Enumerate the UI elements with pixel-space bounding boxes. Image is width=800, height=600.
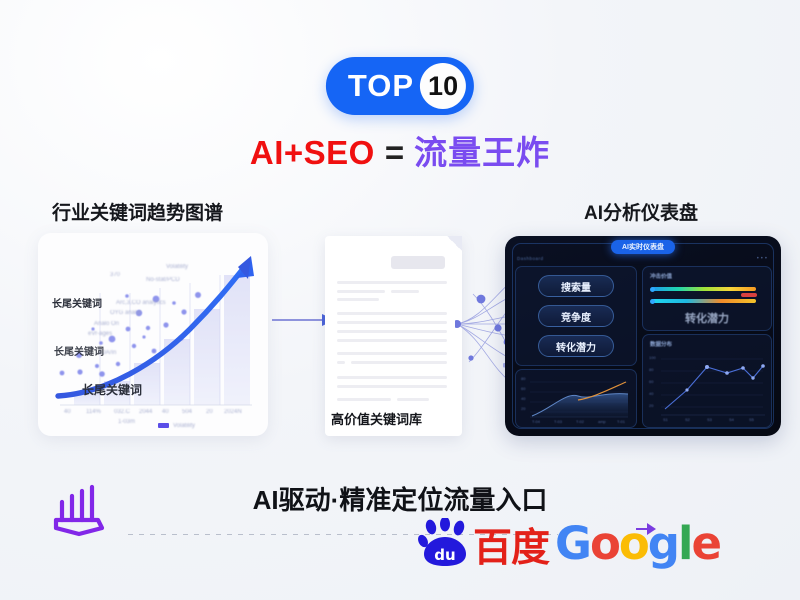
top-rank-badge: TOP 10 [326, 57, 474, 115]
x-tick-4: 40 [162, 409, 169, 415]
doc-line [337, 361, 345, 364]
x-tick-7: 2024N [224, 409, 242, 415]
x-tick-0: 40 [64, 409, 71, 415]
keyword-label-0: 长尾关键词 [52, 295, 102, 310]
area-x-tick-2: T-02 [576, 419, 584, 424]
dashboard-menu-dots[interactable]: ••• [757, 256, 769, 262]
line-x-tick-0: S1 [663, 417, 668, 422]
line-y-tick-1: 40 [649, 391, 653, 396]
area-x-tick-0: T-04 [532, 419, 540, 424]
x-tick-3: 2044 [139, 409, 152, 415]
gauge-alert-tag [741, 293, 757, 297]
doc-line [397, 398, 429, 401]
gauge-bar-1 [652, 299, 756, 303]
doc-line [337, 321, 447, 324]
blur-text-3: OYG analyt [110, 310, 141, 316]
google-letter-4: l [678, 517, 691, 570]
blur-text-7: 370 [110, 272, 120, 278]
area-x-tick-4: T-01 [617, 419, 625, 424]
area-x-tick-3: amp [598, 419, 606, 424]
metric-pill-competition[interactable]: 竞争度 [538, 305, 614, 327]
line-y-tick-2: 60 [649, 379, 653, 384]
area-chart-panel: 80 60 40 20 T-04 T-03 T-02 amp T-01 [515, 369, 637, 428]
line-y-tick-0: 20 [649, 403, 653, 408]
headline-left: AI+SEO [250, 134, 375, 171]
left-section-caption: 行业关键词趋势图谱 [52, 198, 223, 225]
ai-dashboard-panel: AI实时仪表盘 Dashboard ••• 搜索量 竞争度 转化潜力 [505, 236, 781, 436]
blur-text-1: No-stat/PCD [146, 277, 180, 283]
google-letter-5: e [691, 517, 720, 570]
google-letter-1: o [590, 517, 619, 570]
gauge-bar-0 [652, 287, 756, 291]
google-letter-0: G [555, 517, 590, 570]
dashboard-brand-text: Dashboard [517, 256, 544, 261]
baidu-paw-text: du [434, 546, 455, 564]
headline-equals: = [385, 134, 404, 171]
gauge-panel-title: 冲击价值 [650, 272, 672, 280]
gauge-marker-1 [650, 299, 655, 304]
blur-text-2: Arc,3,CO analytics [116, 300, 166, 306]
x-tick-6: 20 [206, 409, 213, 415]
legend-swatch [158, 423, 169, 428]
bar-rank-icon [48, 484, 110, 540]
page-fold-icon [447, 236, 462, 251]
doc-line [337, 290, 385, 293]
doc-caption: 高价值关键词库 [331, 409, 422, 428]
x-tick-1: 114% [86, 409, 101, 415]
keyword-label-1: 长尾关键词 [54, 343, 104, 358]
metric-pill-conversion[interactable]: 转化潜力 [538, 335, 614, 357]
line-x-tick-2: S3 [707, 417, 712, 422]
brand-logos: du 百度 Google [418, 518, 720, 568]
doc-line [337, 281, 447, 284]
keyword-library-card: 高价值关键词库 [325, 236, 462, 436]
keyword-trend-chart [38, 233, 268, 436]
top-badge-label: TOP [348, 70, 414, 103]
doc-line [337, 352, 447, 355]
area-y-tick-0: 20 [521, 406, 525, 411]
doc-line [337, 330, 447, 333]
area-y-tick-1: 40 [521, 396, 525, 401]
gauge-overlay-label: 转化潜力 [643, 310, 771, 326]
blur-text-5: eVr-ages [88, 331, 112, 337]
doc-line [337, 398, 391, 401]
footer-tagline: AI驱动·精准定位流量入口 [0, 480, 800, 517]
baidu-cn-label: 百度 [473, 529, 549, 568]
baidu-logo: du 百度 [418, 518, 549, 568]
line-y-tick-3: 80 [649, 367, 653, 372]
dashboard-title-badge: AI实时仪表盘 [611, 240, 675, 254]
area-x-tick-1: T-03 [554, 419, 562, 424]
doc-header-block [391, 256, 445, 269]
metric-pill-search-volume[interactable]: 搜索量 [538, 275, 614, 297]
blur-text-0: Volatility [166, 264, 188, 270]
area-y-tick-3: 80 [521, 376, 525, 381]
value-gauge-panel: 冲击价值 转化潜力 [642, 266, 772, 331]
x-tick-5: 504 [182, 409, 192, 415]
doc-line [337, 376, 447, 379]
blur-text-4: Analo On [94, 321, 119, 327]
page-title: AI+SEO=流量王炸 [0, 126, 800, 174]
keyword-label-2: 长尾关键词 [82, 381, 142, 398]
x-tick-2: 032.C [114, 409, 130, 415]
line-x-tick-3: S4 [729, 417, 734, 422]
baidu-paw-icon: du [418, 518, 472, 568]
line-chart [643, 335, 771, 427]
area-y-tick-2: 60 [521, 386, 525, 391]
distribution-chart-panel: 数据分布 100 80 60 40 20 S1 [642, 334, 772, 428]
doc-line [391, 290, 419, 293]
metric-pills-panel: 搜索量 竞争度 转化潜力 [515, 266, 637, 366]
keyword-trend-card: Volatility No-stat/PCD Arc,3,CO analytic… [38, 233, 268, 436]
line-x-tick-4: S5 [749, 417, 754, 422]
line-y-tick-4: 100 [649, 355, 656, 360]
legend-label: Volatility [173, 423, 195, 429]
doc-line [337, 339, 447, 342]
top-badge-number-circle: 10 [420, 63, 466, 109]
line-x-tick-1: S2 [685, 417, 690, 422]
doc-line [351, 361, 447, 364]
doc-line [337, 385, 447, 388]
infographic-canvas: TOP 10 AI+SEO=流量王炸 行业关键词趋势图谱 AI分析仪表盘 [0, 0, 800, 600]
gauge-marker-0 [650, 287, 655, 292]
x-axis-caption: 1-03m [118, 419, 135, 425]
top-badge-number: 10 [428, 73, 458, 100]
purple-arrow-icon [636, 522, 656, 536]
doc-line [337, 298, 379, 301]
doc-line [337, 312, 447, 315]
right-section-caption: AI分析仪表盘 [584, 198, 698, 225]
headline-right: 流量王炸 [414, 134, 550, 171]
